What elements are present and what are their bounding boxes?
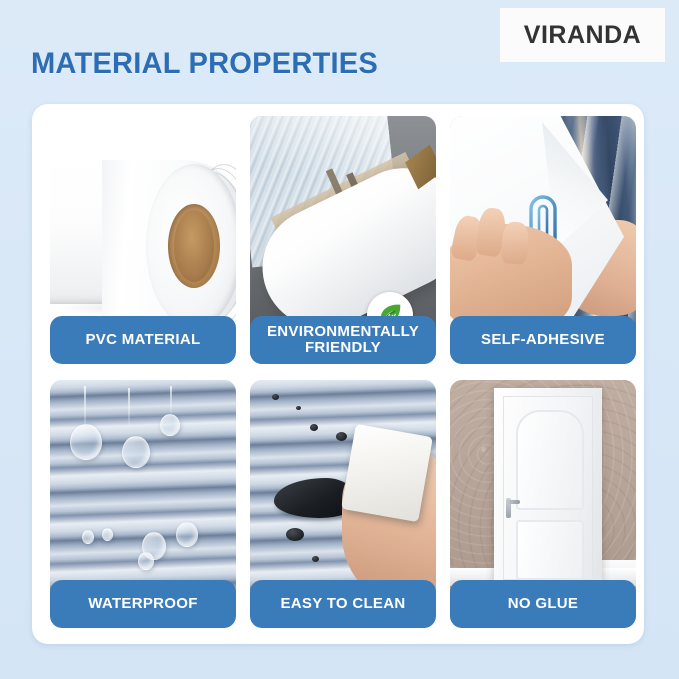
feature-label-environmentally-friendly: ENVIRONMENTALLY FRIENDLY	[250, 316, 436, 364]
feature-label-pvc-material: PVC MATERIAL	[50, 316, 236, 364]
stain-spot	[336, 432, 347, 441]
water-droplet	[102, 528, 113, 541]
feature-label-waterproof: WATERPROOF	[50, 580, 236, 628]
stain-spot	[296, 406, 301, 410]
feature-tile-self-adhesive[interactable]: SELF-ADHESIVE	[450, 116, 636, 364]
label-line-1: ENVIRONMENTALLY	[267, 323, 419, 340]
label-line-2: FRIENDLY	[305, 339, 381, 356]
feature-tile-pvc-material[interactable]: PVC MATERIAL	[50, 116, 236, 364]
infographic-page: VIRANDA MATERIAL PROPERTIES	[0, 0, 679, 679]
cleaning-cloth	[341, 424, 433, 522]
finger	[501, 221, 530, 265]
water-droplet	[82, 530, 94, 544]
brand-logo-box: VIRANDA	[500, 8, 665, 62]
feature-label-no-glue: NO GLUE	[450, 580, 636, 628]
features-grid: PVC MATERIAL	[50, 116, 636, 628]
roll-core-inner	[174, 210, 214, 282]
water-droplet	[122, 436, 150, 468]
water-droplet	[138, 552, 154, 570]
droplet-trail	[128, 388, 130, 428]
water-droplet	[70, 424, 102, 460]
droplet-trail	[170, 386, 172, 416]
water-droplet	[176, 522, 198, 547]
stain-spot	[312, 556, 319, 562]
feature-label-easy-to-clean: EASY TO CLEAN	[250, 580, 436, 628]
page-title: MATERIAL PROPERTIES	[31, 47, 378, 81]
feature-label-self-adhesive: SELF-ADHESIVE	[450, 316, 636, 364]
features-card: PVC MATERIAL	[32, 104, 644, 644]
water-droplet	[160, 414, 180, 436]
stain-spot	[286, 528, 304, 541]
door-panel-bottom	[516, 520, 584, 580]
stain-spot	[272, 394, 279, 400]
brand-name: VIRANDA	[524, 21, 641, 50]
door-handle-lever	[506, 500, 520, 504]
feature-tile-waterproof[interactable]: WATERPROOF	[50, 380, 236, 628]
stain-spot	[310, 424, 318, 431]
feature-tile-easy-to-clean[interactable]: EASY TO CLEAN	[250, 380, 436, 628]
feature-tile-environmentally-friendly[interactable]: ENVIRONMENTALLY FRIENDLY	[250, 116, 436, 364]
door-panel-top	[516, 410, 584, 510]
feature-tile-no-glue[interactable]: NO GLUE	[450, 380, 636, 628]
